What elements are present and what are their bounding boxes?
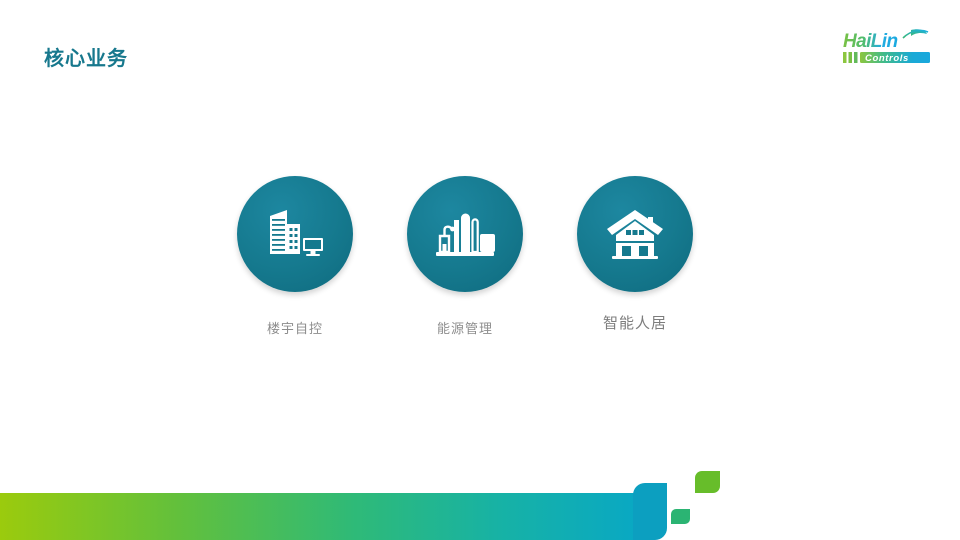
hailin-controls-logo: HaiLin Controls <box>841 28 933 70</box>
house-icon <box>606 208 664 260</box>
industrial-plant-icon <box>434 208 496 260</box>
footer-gradient-bar <box>0 493 640 540</box>
card-icon-circle[interactable] <box>407 176 523 292</box>
card-label: 智能人居 <box>555 312 715 333</box>
card-label: 能源管理 <box>385 318 545 337</box>
card-building-automation[interactable]: 楼宇自控 <box>215 176 375 337</box>
logo-icon: HaiLin Controls <box>841 28 933 70</box>
core-business-cards: 楼宇自控 <box>0 176 960 336</box>
card-energy-management[interactable]: 能源管理 <box>385 176 545 337</box>
card-label: 楼宇自控 <box>215 318 375 337</box>
decoration-square-blue <box>633 483 667 540</box>
card-icon-circle[interactable] <box>577 176 693 292</box>
card-smart-home[interactable]: 智能人居 <box>555 176 715 333</box>
office-buildings-with-monitor-icon <box>264 206 326 262</box>
card-icon-circle[interactable] <box>237 176 353 292</box>
svg-text:HaiLin: HaiLin <box>843 31 897 52</box>
svg-text:Controls: Controls <box>865 53 909 64</box>
decoration-square-green-small <box>671 509 690 524</box>
decoration-square-green-large <box>695 471 720 493</box>
page-title: 核心业务 <box>44 42 128 71</box>
